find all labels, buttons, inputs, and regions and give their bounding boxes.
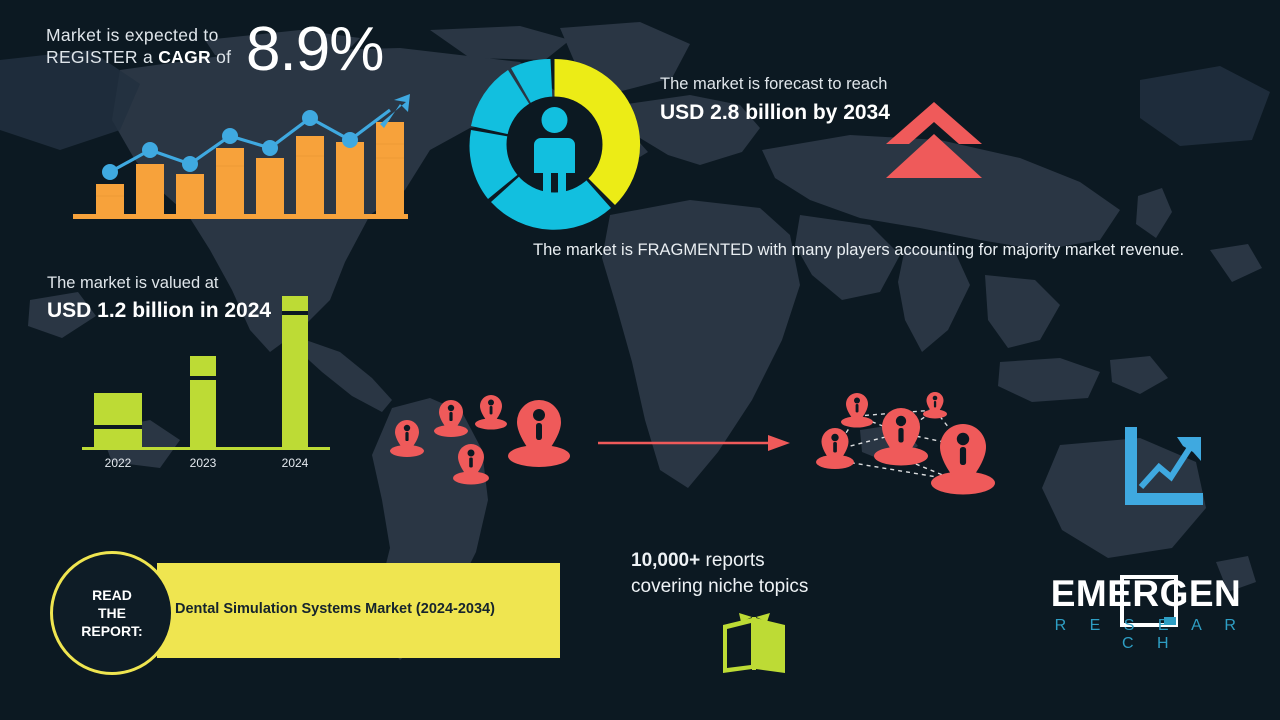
infographic-canvas: Market is expected to REGISTER a CAGR of… bbox=[0, 0, 1280, 720]
bar-segment-divider bbox=[190, 376, 216, 380]
logo-name: EMERGEN bbox=[1046, 573, 1246, 615]
right-arrow-icon bbox=[596, 432, 792, 454]
read-the-report-badge[interactable]: READTHEREPORT: bbox=[50, 551, 174, 675]
reports-stat-line2: covering niche topics bbox=[631, 574, 891, 600]
line-chart-arrow-icon bbox=[1119, 425, 1207, 510]
badge-line2: THE bbox=[98, 605, 126, 621]
x-tick-2023: 2023 bbox=[173, 456, 233, 470]
map-pin-cluster-icon bbox=[383, 390, 583, 495]
market-value-bar-chart: 2022 2023 2024 bbox=[82, 295, 332, 470]
x-tick-2024: 2024 bbox=[265, 456, 325, 470]
map-pin-network-icon bbox=[805, 388, 1010, 503]
bar-segment-divider bbox=[282, 311, 308, 315]
cagr-lead-bold: CAGR bbox=[158, 47, 211, 67]
cagr-lead-line1: Market is expected to bbox=[46, 25, 219, 45]
logo-subtitle: R E S E A R C H bbox=[1046, 617, 1246, 653]
forecast-block: The market is forecast to reach USD 2.8 … bbox=[660, 74, 890, 126]
bar-segment-divider bbox=[94, 425, 142, 429]
cagr-lead-text: Market is expected to REGISTER a CAGR of bbox=[46, 20, 246, 68]
open-book-icon bbox=[719, 613, 793, 675]
forecast-lead: The market is forecast to reach bbox=[660, 74, 890, 95]
growth-bar-chart-icon bbox=[68, 86, 413, 226]
read-the-report-label: READTHEREPORT: bbox=[81, 586, 142, 640]
report-banner[interactable]: Dental Simulation Systems Market (2024-2… bbox=[157, 563, 560, 658]
fragmented-market-text: The market is FRAGMENTED with many playe… bbox=[533, 238, 1223, 263]
cagr-lead-line2-pre: REGISTER a bbox=[46, 47, 158, 67]
reports-count-suffix: reports bbox=[700, 550, 764, 571]
bar-2024 bbox=[282, 296, 308, 448]
reports-stat-line1: 10,000+ reports bbox=[631, 548, 891, 574]
cagr-lead-line2-post: of bbox=[211, 47, 231, 67]
valued-lead: The market is valued at bbox=[47, 272, 307, 294]
reports-count: 10,000+ bbox=[631, 550, 700, 571]
bar-2023 bbox=[190, 356, 216, 448]
cagr-block: Market is expected to REGISTER a CAGR of… bbox=[46, 20, 466, 80]
x-tick-2022: 2022 bbox=[88, 456, 148, 470]
badge-line3: REPORT: bbox=[81, 623, 142, 639]
emergen-research-logo: EMERGEN R E S E A R C H bbox=[1046, 573, 1246, 653]
report-title: Dental Simulation Systems Market (2024-2… bbox=[175, 601, 545, 617]
badge-line1: READ bbox=[92, 587, 132, 603]
forecast-value: USD 2.8 billion by 2034 bbox=[660, 99, 890, 126]
reports-stat-block: 10,000+ reports covering niche topics bbox=[631, 548, 891, 600]
donut-chart-person-icon bbox=[462, 52, 647, 237]
cagr-value: 8.9% bbox=[246, 20, 383, 80]
double-chevron-up-icon bbox=[885, 100, 983, 180]
bar-2022 bbox=[94, 393, 142, 448]
